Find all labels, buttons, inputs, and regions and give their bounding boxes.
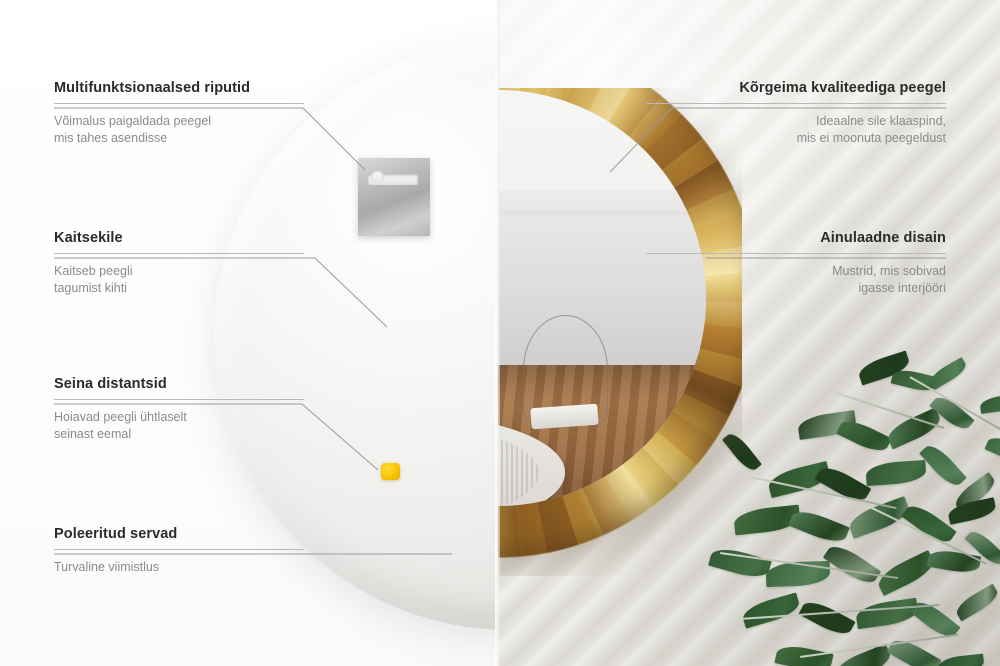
panel-divider bbox=[495, 0, 500, 666]
callout-body: Turvaline viimistlus bbox=[54, 559, 304, 576]
leaf bbox=[927, 548, 982, 576]
leaf bbox=[855, 598, 920, 629]
leaf bbox=[774, 642, 833, 666]
callout-rule bbox=[54, 103, 304, 104]
callout-rule bbox=[54, 399, 304, 400]
mirror-glass bbox=[498, 90, 706, 506]
callout-ainulaadne-disain: Ainulaadne disain Mustrid, mis sobivad i… bbox=[646, 230, 946, 297]
hanger-plate bbox=[358, 158, 430, 236]
callout-rule bbox=[646, 253, 946, 254]
leaf bbox=[927, 357, 969, 390]
callout-poleeritud-servad: Poleeritud servad Turvaline viimistlus bbox=[54, 526, 304, 576]
leaf bbox=[919, 441, 967, 491]
leaf bbox=[947, 497, 998, 525]
leaf bbox=[985, 433, 1000, 470]
callout-title: Multifunktsionaalsed riputid bbox=[54, 80, 304, 96]
callout-rule bbox=[646, 103, 946, 104]
leaf bbox=[901, 500, 956, 548]
wall-spacer-pad bbox=[381, 463, 400, 480]
leaf bbox=[740, 592, 802, 628]
leaf bbox=[884, 408, 944, 450]
mirror-product-photo bbox=[498, 88, 742, 576]
callout-kaitsekile: Kaitsekile Kaitseb peegli tagumist kihti bbox=[54, 230, 304, 297]
leaf bbox=[865, 460, 926, 486]
leaf bbox=[953, 584, 1000, 622]
callout-rule bbox=[54, 549, 304, 550]
callout-body: Hoiavad peegli ühtlaselt seinast eemal bbox=[54, 409, 304, 443]
callout-multifunktsionaalsed-riputid: Multifunktsionaalsed riputid Võimalus pa… bbox=[54, 80, 304, 147]
callout-korgeima-kvaliteediga-peegel: Kõrgeima kvaliteediga peegel Ideaalne si… bbox=[646, 80, 946, 147]
callout-body: Võimalus paigaldada peegel mis tahes ase… bbox=[54, 113, 304, 147]
keyhole-slot-icon bbox=[368, 174, 418, 185]
callout-title: Kõrgeima kvaliteediga peegel bbox=[646, 80, 946, 96]
leaf bbox=[937, 654, 985, 666]
leaf bbox=[979, 393, 1000, 414]
callout-title: Ainulaadne disain bbox=[646, 230, 946, 246]
leaf bbox=[798, 596, 855, 639]
callout-title: Seina distantsid bbox=[54, 376, 304, 392]
leaf bbox=[836, 416, 892, 457]
infographic-canvas: Multifunktsionaalsed riputid Võimalus pa… bbox=[0, 0, 1000, 666]
callout-title: Poleeritud servad bbox=[54, 526, 304, 542]
leaf bbox=[766, 561, 831, 587]
callout-body: Mustrid, mis sobivad igasse interjööri bbox=[646, 263, 946, 297]
gold-frame-ring bbox=[498, 88, 742, 558]
callout-title: Kaitsekile bbox=[54, 230, 304, 246]
callout-rule bbox=[54, 253, 304, 254]
callout-body: Ideaalne sile klaaspind, mis ei moonuta … bbox=[646, 113, 946, 147]
leaf bbox=[823, 540, 881, 589]
callout-seina-distantsid: Seina distantsid Hoiavad peegli ühtlasel… bbox=[54, 376, 304, 443]
callout-body: Kaitseb peegli tagumist kihti bbox=[54, 263, 304, 297]
leaf bbox=[788, 506, 850, 547]
